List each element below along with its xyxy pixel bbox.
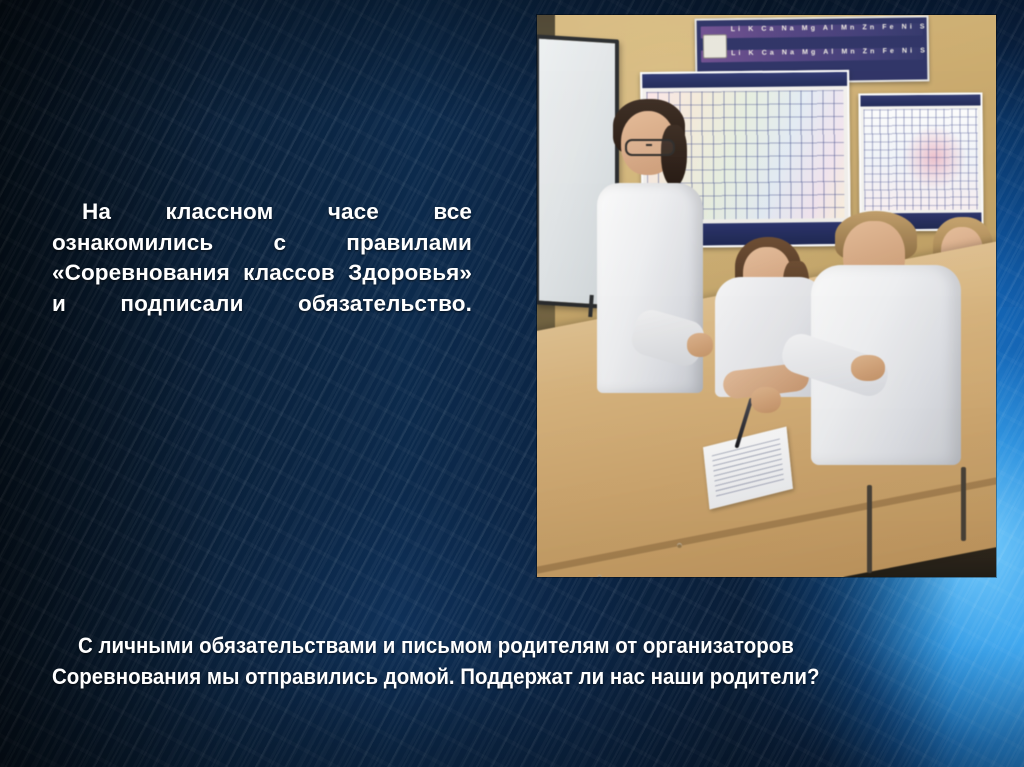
solubility-table-grid — [864, 109, 979, 211]
seated-boy-writing-hand — [751, 387, 781, 413]
bottom-paragraph: С личными обязательствами и письмом роди… — [52, 630, 880, 692]
activity-series-badge — [703, 34, 727, 58]
periodic-table-header — [642, 72, 847, 88]
top-paragraph-text: На классном часе все ознакомились с прав… — [52, 199, 472, 316]
standing-teacher-hand — [687, 333, 713, 357]
desk-screw-3 — [597, 575, 602, 577]
top-paragraph: На классном часе все ознакомились с прав… — [52, 197, 472, 319]
classroom-photo: Li K Ca Na Mg Al Mn Zn Fe Ni Sn Pb Cu Ag… — [537, 15, 996, 577]
seated-boy-resting-hand — [851, 355, 885, 381]
eyeglasses — [625, 139, 675, 156]
desk-leg-2 — [961, 467, 966, 541]
solubility-table-header — [860, 94, 980, 106]
standing-teacher-hair-side — [661, 125, 687, 187]
desk-leg-1 — [867, 485, 872, 573]
document-text-lines — [712, 438, 784, 497]
bottom-paragraph-text: С личными обязательствами и письмом роди… — [52, 633, 819, 689]
presentation-slide: На классном часе все ознакомились с прав… — [0, 0, 1024, 767]
desk-screw-2 — [677, 543, 682, 548]
